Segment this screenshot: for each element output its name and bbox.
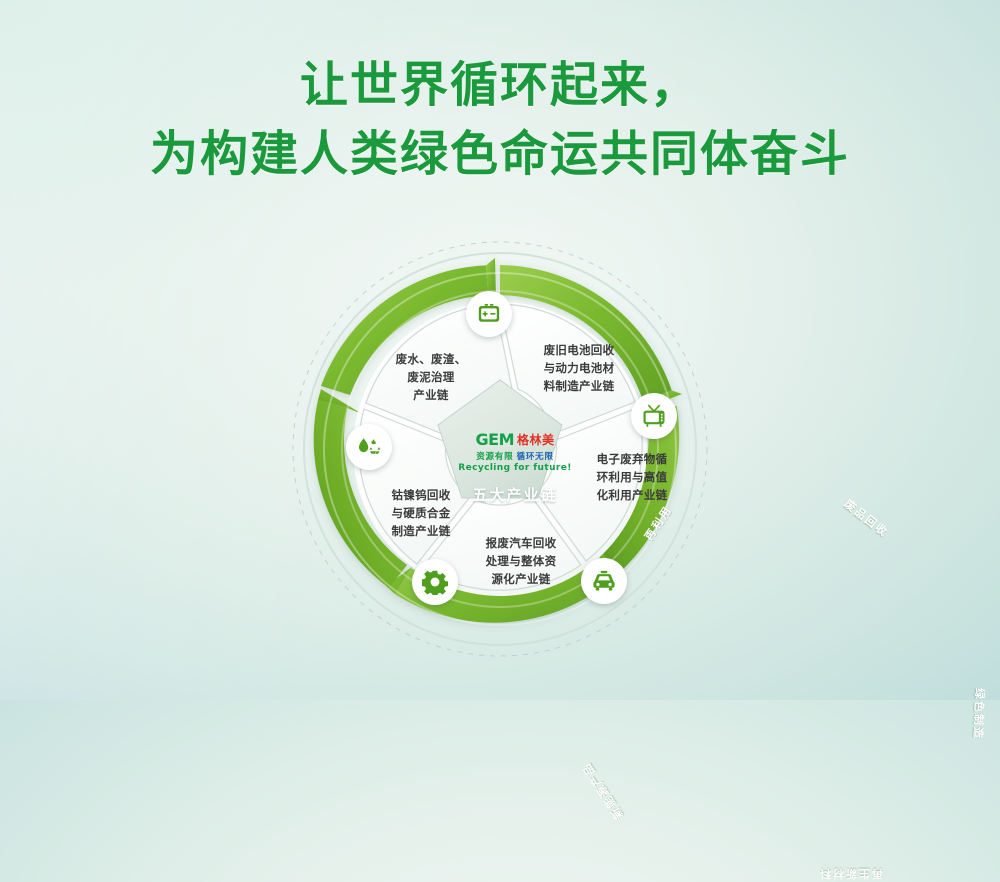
gear-icon (422, 569, 448, 595)
page-title: 让世界循环起来， 为构建人类绿色命运共同体奋斗 (0, 55, 1000, 186)
gem-logo-latin: GEM (476, 432, 514, 448)
car-icon (591, 568, 617, 594)
recycle-drop-icon-bubble (346, 424, 392, 470)
gem-logo-slogan-right: 循环无限 (517, 451, 554, 461)
gem-logo-wordmark-row: GEM 格林美 (455, 432, 575, 448)
petal-label-water: 废水、废渣、 废泥治理 产业链 (375, 352, 487, 405)
ring-label-newmat: 再生新材料 (818, 866, 883, 882)
tv-icon (641, 403, 667, 429)
gem-logo-chinese: 格林美 (517, 434, 555, 446)
petal-label-battery: 废旧电池回收 与动力电池材 料制造产业链 (523, 343, 635, 396)
gear-icon-bubble (412, 559, 458, 605)
gem-logo-english: Recycling for future! (455, 463, 575, 473)
petal-label-ewaste: 电子废弃物循 环利用与高值 化利用产业链 (585, 452, 679, 505)
gem-logo-slogan-left: 资源有限 (476, 451, 513, 461)
car-icon-bubble (581, 558, 627, 604)
recycle-drop-icon (356, 434, 382, 460)
ring-label-newenergy: 新能源产品 (578, 759, 627, 822)
ring-label-recover: 废品回收 (841, 496, 892, 541)
gem-logo: GEM 格林美 资源有限 循环无限 Recycling for future! (455, 432, 575, 473)
page-title-line-2: 为构建人类绿色命运共同体奋斗 (0, 124, 1000, 186)
petal-label-auto: 报废汽车回收 处理与整体资 源化产业链 (472, 536, 570, 589)
battery-icon (476, 301, 502, 327)
battery-icon-bubble (466, 291, 512, 337)
ring-label-green: 绿色制造 (970, 688, 988, 741)
gem-logo-slogan: 资源有限 循环无限 (455, 450, 575, 462)
tv-icon-bubble (631, 393, 677, 439)
center-caption: 五大产业链 (455, 484, 575, 505)
page-title-line-1: 让世界循环起来， (0, 55, 1000, 117)
